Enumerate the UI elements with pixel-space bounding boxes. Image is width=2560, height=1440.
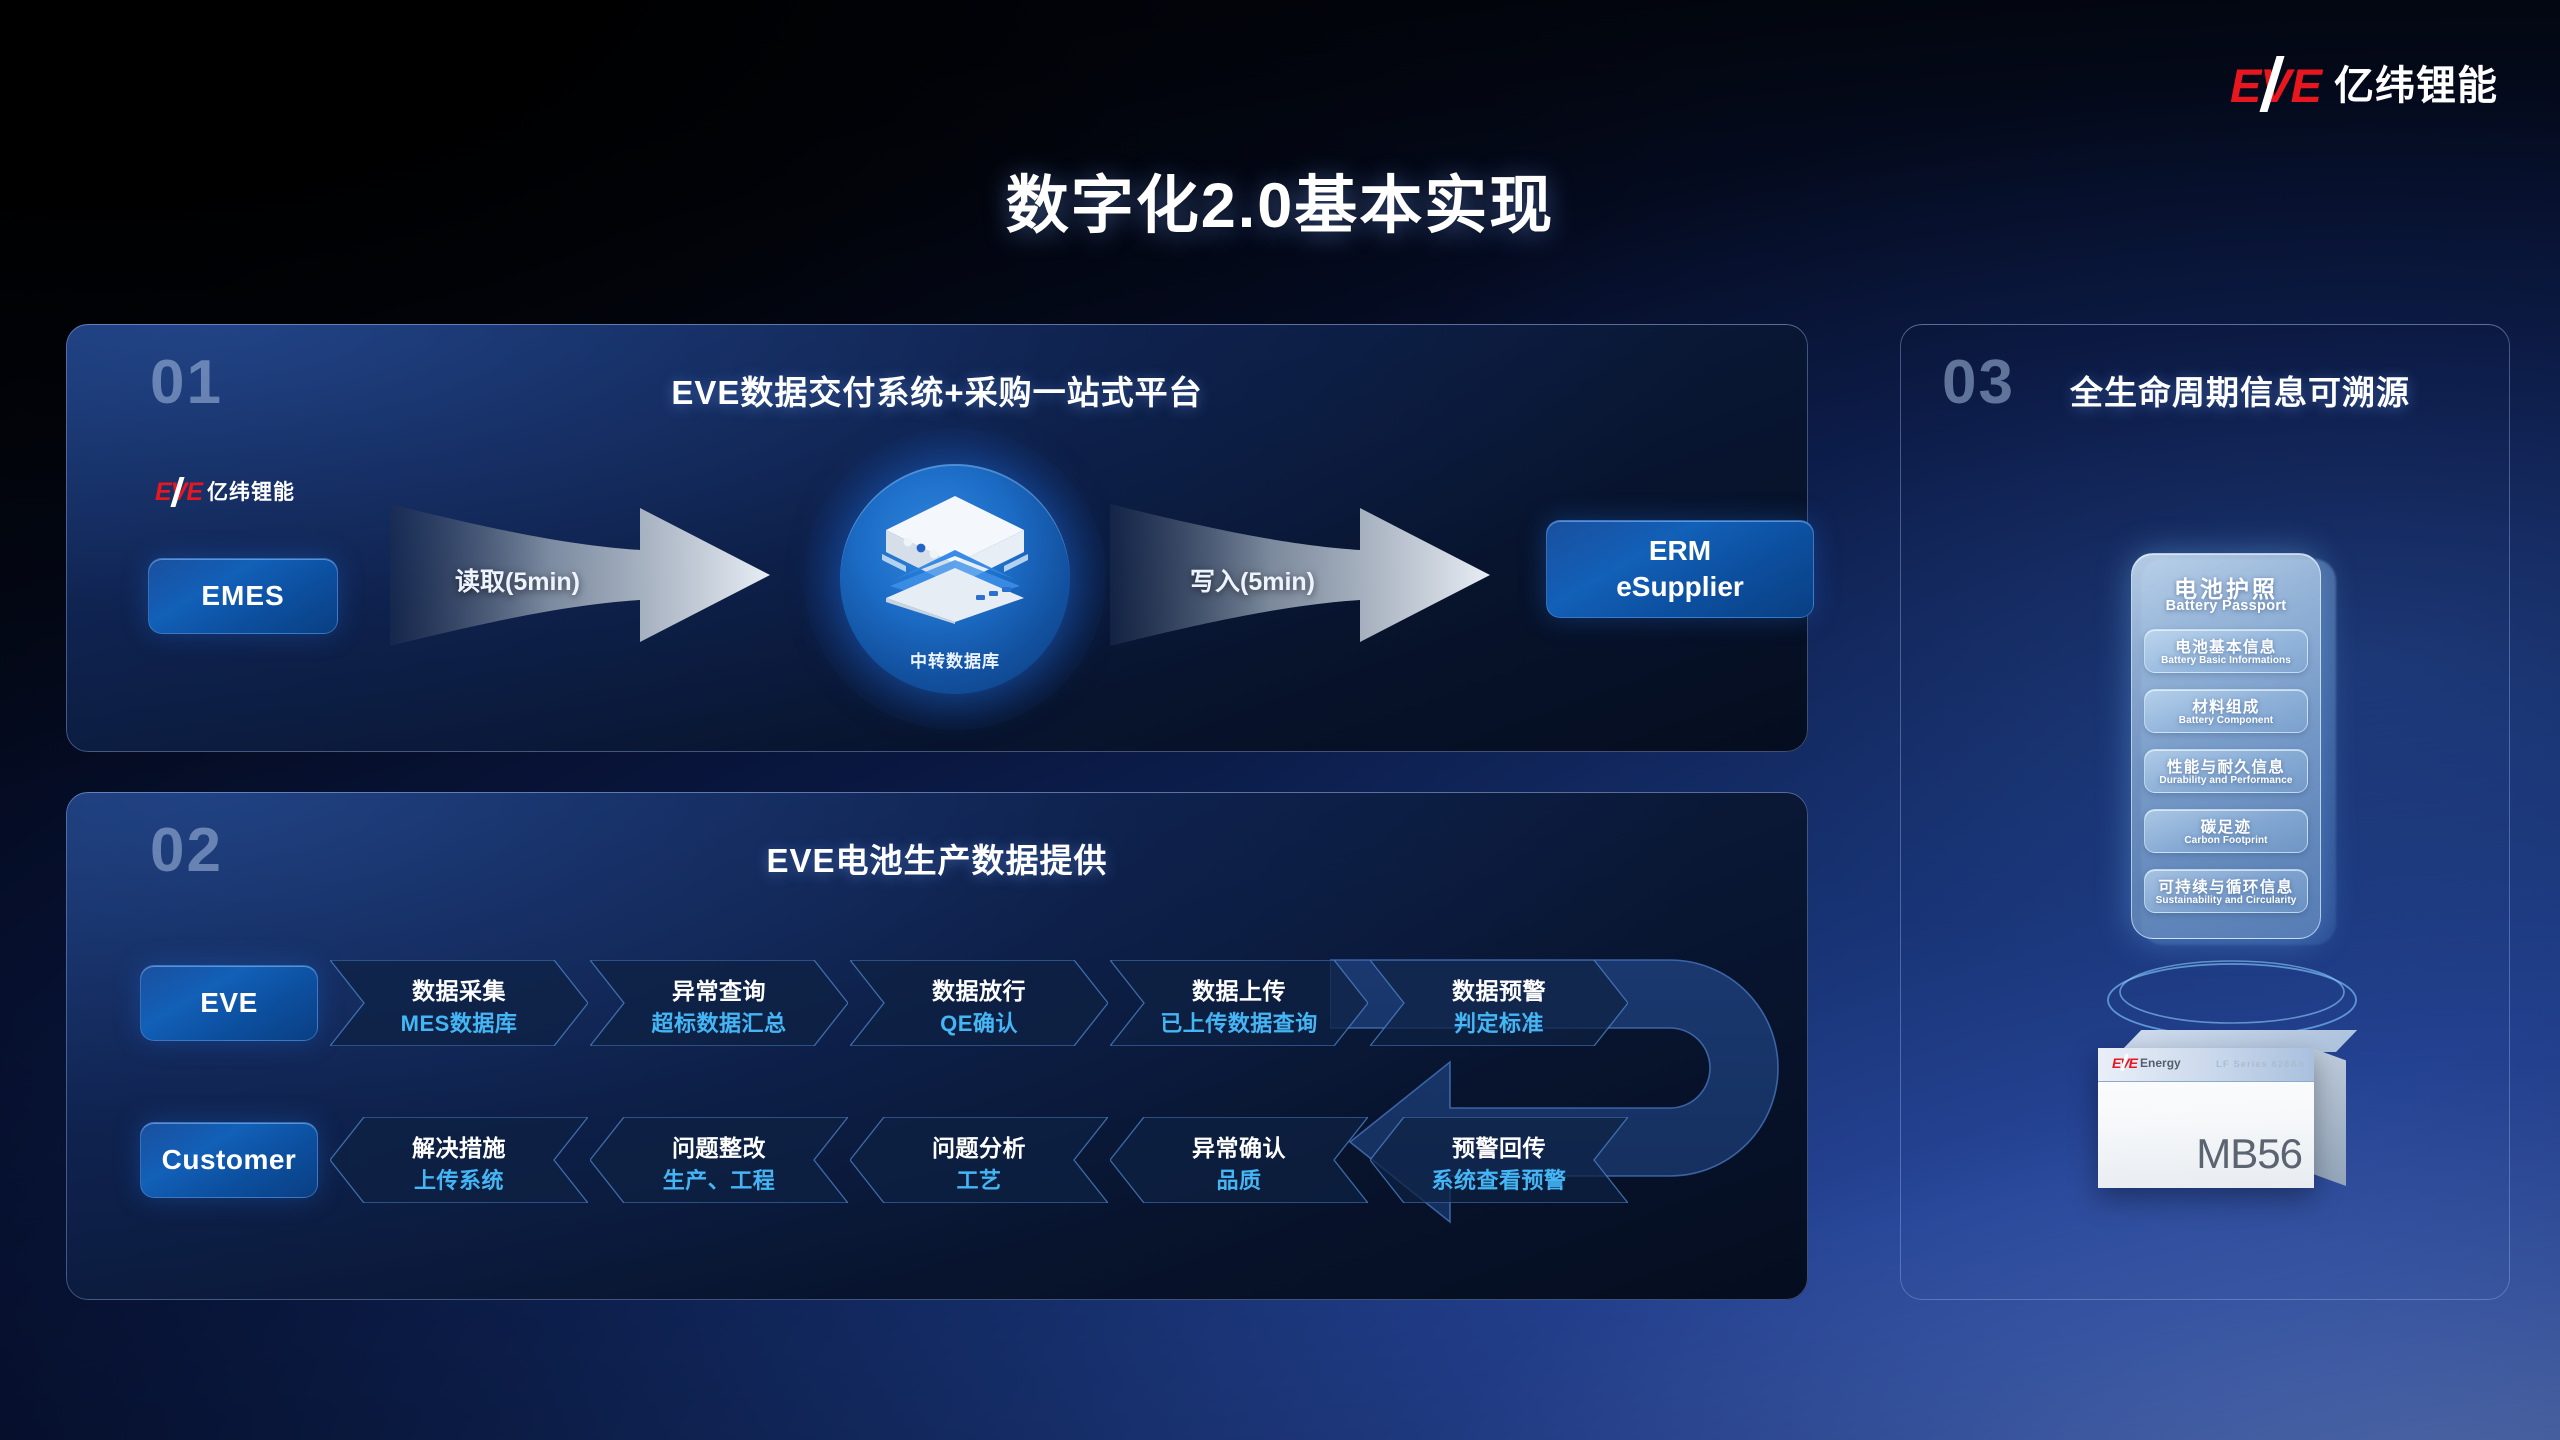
- process-step[interactable]: 异常查询 超标数据汇总: [590, 960, 848, 1046]
- process-step-sub: 生产、工程: [590, 1163, 848, 1195]
- process-step-title: 解决措施: [330, 1129, 588, 1163]
- process-step[interactable]: 数据上传 已上传数据查询: [1110, 960, 1368, 1046]
- brand-name-cn: 亿纬锂能: [2334, 66, 2498, 106]
- emes-source-logo: EVE 亿纬锂能: [155, 480, 295, 505]
- passport-row-en: Durability and Performance: [2145, 775, 2307, 786]
- process-step-sub: 系统查看预警: [1370, 1163, 1628, 1195]
- read-arrow-label: 读取(5min): [455, 562, 580, 598]
- battery-product-image: EVE Energy LF Series 628Ah MB56: [2098, 1030, 2358, 1210]
- eve-wordmark-small: EVE: [155, 480, 202, 505]
- process-step[interactable]: 预警回传 系统查看预警: [1370, 1117, 1628, 1203]
- database-label: 中转数据库: [840, 647, 1070, 672]
- process-step-title: 异常确认: [1110, 1129, 1368, 1163]
- process-step-sub: 已上传数据查询: [1110, 1006, 1368, 1038]
- emes-box[interactable]: EMES: [148, 558, 338, 634]
- erm-line1: ERM: [1649, 535, 1711, 566]
- process-step-title: 数据上传: [1110, 972, 1368, 1006]
- panel-heading-01: EVE数据交付系统+采购一站式平台: [66, 366, 1808, 414]
- process-step-title: 数据采集: [330, 972, 588, 1006]
- process-step[interactable]: 数据放行 QE确认: [850, 960, 1108, 1046]
- passport-row[interactable]: 碳足迹 Carbon Footprint: [2144, 809, 2308, 853]
- product-model-text: MB56: [2196, 1130, 2302, 1178]
- panel-heading-02: EVE电池生产数据提供: [66, 834, 1808, 882]
- brand-logo: EVE 亿纬锂能: [2230, 62, 2498, 109]
- process-step[interactable]: 数据采集 MES数据库: [330, 960, 588, 1046]
- passport-row-cn: 电池基本信息: [2145, 635, 2307, 657]
- process-step[interactable]: 异常确认 品质: [1110, 1117, 1368, 1203]
- passport-row-en: Battery Component: [2145, 715, 2307, 726]
- process-step-title: 数据放行: [850, 972, 1108, 1006]
- process-step-sub: MES数据库: [330, 1006, 588, 1038]
- passport-row-en: Sustainability and Circularity: [2145, 895, 2307, 906]
- customer-row-label[interactable]: Customer: [140, 1122, 318, 1198]
- passport-row-cn: 碳足迹: [2145, 815, 2307, 837]
- process-step-sub: QE确认: [850, 1006, 1108, 1038]
- process-step[interactable]: 数据预警 判定标准: [1370, 960, 1628, 1046]
- transfer-database: 中转数据库: [840, 464, 1070, 694]
- process-step-sub: 工艺: [850, 1163, 1108, 1195]
- product-series-text: LF Series 628Ah: [2216, 1059, 2305, 1070]
- passport-title-en: Battery Passport: [2131, 598, 2321, 614]
- passport-row-cn: 可持续与循环信息: [2145, 875, 2307, 897]
- erm-line2: eSupplier: [1616, 571, 1744, 602]
- process-step-title: 问题分析: [850, 1129, 1108, 1163]
- process-step-title: 异常查询: [590, 972, 848, 1006]
- process-step-sub: 品质: [1110, 1163, 1368, 1195]
- process-step-title: 问题整改: [590, 1129, 848, 1163]
- process-step-title: 预警回传: [1370, 1129, 1628, 1163]
- passport-row-cn: 材料组成: [2145, 695, 2307, 717]
- panel-number-03: 03: [1942, 352, 2015, 414]
- product-logo-text: Energy: [2140, 1056, 2181, 1070]
- process-step-title: 数据预警: [1370, 972, 1628, 1006]
- erm-esupplier-box[interactable]: ERM eSupplier: [1546, 520, 1814, 618]
- process-step-sub: 上传系统: [330, 1163, 588, 1195]
- product-front-face: EVE Energy LF Series 628Ah MB56: [2098, 1048, 2314, 1188]
- eve-wordmark-product: EVE: [2112, 1056, 2137, 1070]
- panel-heading-03: 全生命周期信息可溯源: [2070, 366, 2410, 414]
- passport-row-en: Carbon Footprint: [2145, 835, 2307, 846]
- passport-row[interactable]: 性能与耐久信息 Durability and Performance: [2144, 749, 2308, 793]
- product-eve-logo: EVE Energy: [2112, 1056, 2181, 1070]
- passport-row[interactable]: 材料组成 Battery Component: [2144, 689, 2308, 733]
- passport-row-cn: 性能与耐久信息: [2145, 755, 2307, 777]
- eve-wordmark: EVE: [2230, 62, 2321, 109]
- process-step[interactable]: 解决措施 上传系统: [330, 1117, 588, 1203]
- product-side-face: [2312, 1048, 2346, 1186]
- passport-row[interactable]: 可持续与循环信息 Sustainability and Circularity: [2144, 869, 2308, 913]
- process-step-sub: 判定标准: [1370, 1006, 1628, 1038]
- passport-row-en: Battery Basic Informations: [2145, 655, 2307, 666]
- passport-row[interactable]: 电池基本信息 Battery Basic Informations: [2144, 629, 2308, 673]
- brand-name-cn-small: 亿纬锂能: [207, 482, 295, 503]
- process-step[interactable]: 问题整改 生产、工程: [590, 1117, 848, 1203]
- process-step-sub: 超标数据汇总: [590, 1006, 848, 1038]
- page-title: 数字化2.0基本实现: [0, 155, 2560, 246]
- battery-passport-card: 电池护照 Battery Passport 电池基本信息 Battery Bas…: [2131, 553, 2331, 945]
- server-stack-icon: [880, 494, 1030, 624]
- process-step[interactable]: 问题分析 工艺: [850, 1117, 1108, 1203]
- eve-row-label[interactable]: EVE: [140, 965, 318, 1041]
- write-arrow-label: 写入(5min): [1190, 562, 1315, 598]
